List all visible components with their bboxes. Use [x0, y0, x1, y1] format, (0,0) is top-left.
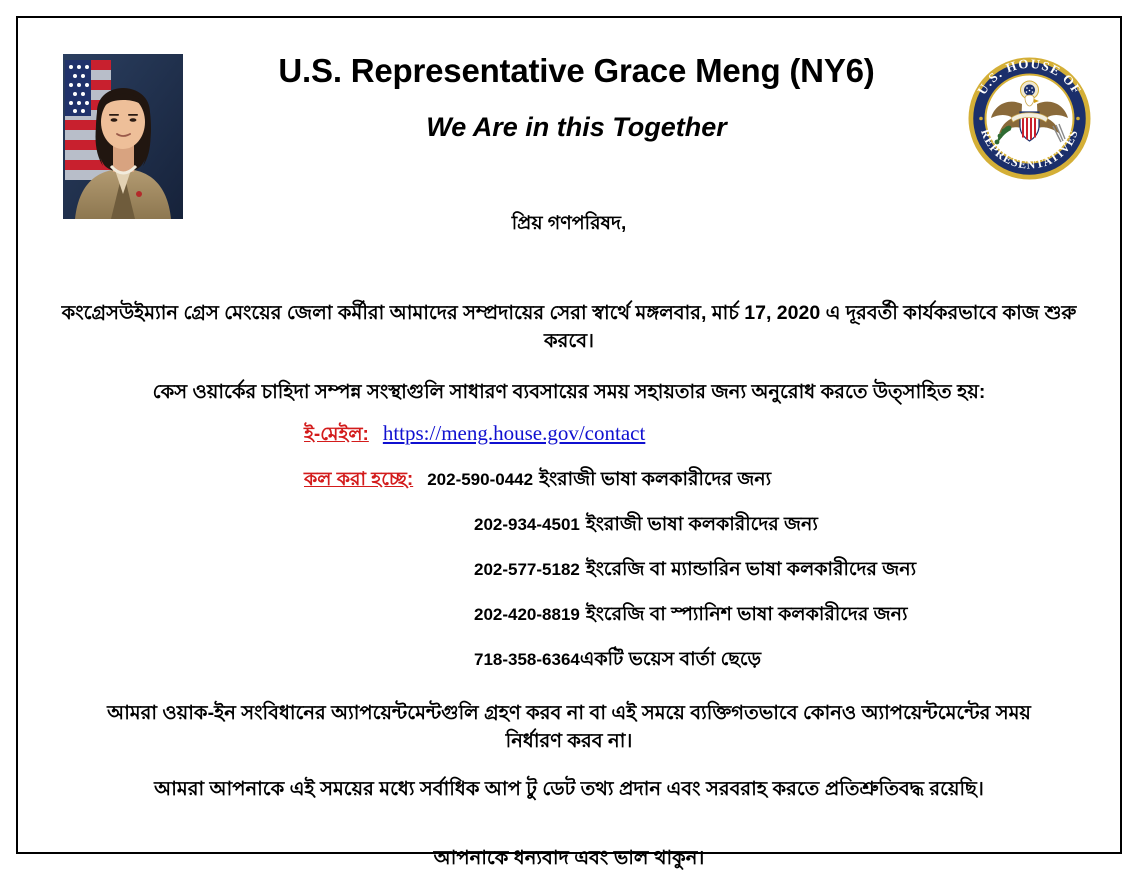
phone-number[interactable]: 202-420-8819 — [474, 605, 580, 625]
contact-block: ই-মেইল: https://meng.house.gov/contact ক… — [18, 420, 1120, 677]
us-house-seal-icon: U.S. HOUSE OF REPRESENTATIVES — [967, 56, 1092, 181]
phone-note: ইংরেজি বা স্প্যানিশ ভাষা কলকারীদের জন্য — [586, 600, 908, 632]
title-block: U.S. Representative Grace Meng (NY6) We … — [208, 52, 945, 143]
email-link[interactable]: https://meng.house.gov/contact — [383, 421, 645, 446]
portrait-grace-meng — [63, 54, 183, 219]
phone-number[interactable]: 202-934-4501 — [474, 515, 580, 535]
email-label: ই-মেইল: — [304, 420, 369, 452]
phone-note: ইংরেজি বা ম্যান্ডারিন ভাষা কলকারীদের জন্… — [586, 555, 916, 587]
email-row: ই-মেইল: https://meng.house.gov/contact — [304, 420, 1120, 452]
paragraph-intro: কংগ্রেসউইম্যান গ্রেস মেংয়ের জেলা কর্মীর… — [18, 299, 1120, 356]
page-subtitle: We Are in this Together — [208, 112, 945, 143]
phone-row-2: 202-934-4501 ইংরাজী ভাষা কলকারীদের জন্য — [304, 510, 1120, 542]
call-label: কল করা হচ্ছে: — [304, 465, 413, 497]
paragraph-walkin-policy: আমরা ওয়াক-ইন সংবিধানের অ্যাপয়েন্টমেন্ট… — [18, 699, 1120, 756]
phone-note: একটি ভয়েস বার্তা ছেড়ে — [580, 645, 761, 677]
phone-row-1: কল করা হচ্ছে: 202-590-0442 ইংরাজী ভাষা ক… — [304, 465, 1120, 497]
paragraph-casework: কেস ওয়ার্কের চাহিদা সম্পন্ন সংস্থাগুলি … — [18, 378, 1120, 406]
phone-row-4: 202-420-8819 ইংরেজি বা স্প্যানিশ ভাষা কল… — [304, 600, 1120, 632]
phone-number[interactable]: 718-358-6364 — [474, 650, 580, 670]
phone-row-3: 202-577-5182 ইংরেজি বা ম্যান্ডারিন ভাষা … — [304, 555, 1120, 587]
paragraph-thanks: আপনাকে ধন্যবাদ এবং ভাল থাকুন। — [18, 844, 1120, 872]
phone-note: ইংরাজী ভাষা কলকারীদের জন্য — [539, 465, 771, 497]
paragraph-commitment: আমরা আপনাকে এই সময়ের মধ্যে সর্বাধিক আপ … — [18, 775, 1120, 803]
phone-number[interactable]: 202-577-5182 — [474, 560, 580, 580]
phone-row-5: 718-358-6364 একটি ভয়েস বার্তা ছেড়ে — [304, 645, 1120, 677]
letterhead: U.S. Representative Grace Meng (NY6) We … — [18, 18, 1120, 193]
salutation: প্রিয় গণপরিষদ, — [18, 209, 1120, 241]
phone-note: ইংরাজী ভাষা কলকারীদের জন্য — [586, 510, 818, 542]
letter-page: U.S. Representative Grace Meng (NY6) We … — [16, 16, 1122, 854]
page-title: U.S. Representative Grace Meng (NY6) — [208, 52, 945, 90]
phone-number[interactable]: 202-590-0442 — [427, 470, 533, 490]
